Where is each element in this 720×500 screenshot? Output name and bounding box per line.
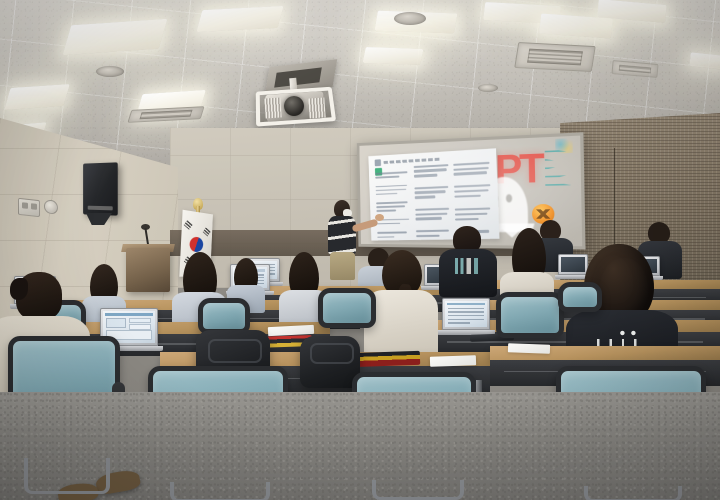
trigram-top-right [203, 228, 211, 237]
acoustic-panel-seam [614, 148, 615, 244]
presenter-torso-striped-shirt [328, 216, 356, 254]
slide-text-column-1 [375, 166, 412, 238]
smoke-detector-2 [394, 12, 426, 25]
chair-backrest [198, 298, 250, 334]
recessed-light-9 [363, 47, 424, 65]
laptop-lid [442, 298, 490, 330]
chair-front-center-legs-front [170, 482, 270, 500]
chair-backrest [496, 292, 564, 338]
smoke-detector-1 [96, 66, 124, 77]
shirt-graphic-teal-text [454, 258, 484, 274]
light-switch-panel[interactable] [18, 198, 40, 217]
smoke-detector-3 [478, 84, 498, 92]
chair-front-left-legs-front [24, 458, 110, 494]
laptop-screen [561, 257, 585, 272]
laptop-screen [445, 301, 487, 327]
chair-mid-right[interactable] [496, 292, 564, 338]
papers-stack-3 [430, 355, 476, 367]
recessed-light-4 [196, 6, 283, 32]
lectern [126, 248, 170, 292]
laptop-lid [558, 254, 588, 275]
trigram-top-left [184, 220, 193, 229]
projector-vent-right [308, 97, 325, 118]
laptop-8[interactable] [442, 298, 490, 330]
chair-front-right-legs-front [584, 486, 682, 500]
laptop-3[interactable] [558, 254, 588, 275]
chair-front-mid-legs-front [372, 480, 464, 500]
chair-backrest [318, 288, 376, 328]
slide-doc-icon [375, 159, 381, 166]
cassette-ac-vent [514, 42, 596, 72]
lecture-hall-photo: PT [0, 0, 720, 500]
slide-document-card [369, 149, 500, 242]
presenter-legs-khaki [330, 252, 355, 280]
recessed-light-2 [4, 84, 70, 110]
shirt-graphic-dots [618, 330, 640, 336]
chair-right-row[interactable] [558, 282, 602, 312]
papers-stack-4 [508, 343, 550, 353]
slide-text-column-2 [414, 164, 452, 237]
chair-mid-center[interactable] [318, 288, 376, 328]
wall-speaker [83, 162, 118, 215]
backpack-2[interactable] [300, 336, 360, 388]
chair-mid-left[interactable] [198, 298, 250, 334]
student-hair-tuft [10, 278, 28, 300]
slide-doc-header-text [384, 158, 441, 164]
projector-vent-left [264, 97, 281, 118]
slide-chevron-pattern [545, 147, 572, 190]
projector-lens [284, 96, 304, 116]
slide-text-columns [375, 162, 494, 238]
notebook-stack-3 [350, 351, 420, 367]
chair-backrest [558, 282, 602, 312]
slide-text-column-3 [454, 162, 494, 237]
presenter-hand [375, 214, 384, 221]
